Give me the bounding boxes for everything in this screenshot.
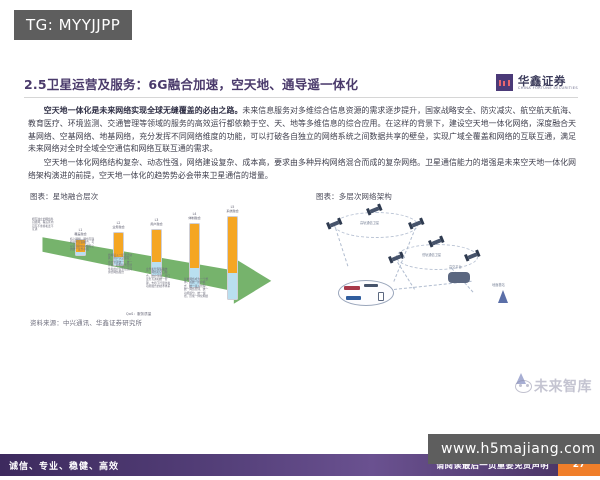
platform-label: 高空平台 — [449, 264, 462, 269]
page-title: 2.5卫星运营及服务：6G融合加速，空天地、通导遥一体化 — [24, 77, 358, 92]
footer-slogan: 诚信、专业、稳健、高效 — [0, 459, 119, 472]
bar-label-l3: L3用户融合 — [150, 219, 162, 227]
annotation-5: 星地网络成为一个整体，按统一用户模式、统一接入管理、统一网络管理、统一功能拆分、… — [184, 278, 210, 299]
ship-icon — [346, 296, 361, 300]
bar-label-l2: L2业务融合 — [112, 222, 124, 230]
vehicle-icon-1 — [344, 286, 360, 290]
watermark-overlay: 未来智库 — [515, 376, 592, 396]
bar-label-l1: L1覆盖融合 — [74, 229, 86, 237]
figure-left: 图表：星地融合层次 L1覆盖融合 — [30, 191, 290, 312]
orbit-ring-high — [334, 212, 418, 238]
paragraph-1-lead: 空天地一体化是未来网络实现全球无缝覆盖的必由之路。 — [44, 106, 243, 115]
figure-right-canvas: 高轨通信卫星 低轨通信卫星 高空平台 — [316, 206, 576, 312]
annotation-4: 业务和管理策略统一，网络和空口融合，用户平面、无口业务互通和统一管理，支持下行量… — [146, 268, 172, 289]
brand-logo: 华鑫证券 CHINA FORTUNE SECURITIES — [496, 74, 578, 92]
brand-mark-icon — [496, 74, 513, 91]
high-altitude-platform-icon — [448, 272, 470, 283]
paragraph-2-text: 空天地一体化网络结构复杂、动态性强，网络建设复杂、成本高，要求由多种异构网络混合… — [28, 158, 576, 180]
qos-legend-label: QoS：服务质量 — [126, 311, 151, 316]
annotation-2: 核心网侧、网络互联和业务层面融合，可以实现跨QoS保障上的统一业务承载 — [70, 238, 96, 252]
orbit-label-high: 高轨通信卫星 — [360, 220, 379, 225]
watermark-overlay-text: 未来智库 — [534, 376, 592, 396]
figures-row: 图表：星地融合层次 L1覆盖融合 — [0, 184, 600, 312]
watermark-badge-top: TG: MYYJJPP — [14, 10, 132, 40]
figure-left-caption: 图表：星地融合层次 — [30, 191, 290, 202]
ground-station-label: 地面基站 — [492, 282, 505, 287]
slide-header: 2.5卫星运营及服务：6G融合加速，空天地、通导遥一体化 华鑫证券 CHINA … — [0, 62, 600, 92]
orbit-label-low: 低轨通信卫星 — [422, 252, 441, 257]
device-icon — [378, 292, 384, 301]
annotation-3: 终端接入一层灵活切换，用户认证鉴权，用户管理统一，统一计费，跨网业务连续性和用户… — [108, 254, 134, 275]
paragraph-1: 空天地一体化是未来网络实现全球无缝覆盖的必由之路。未来信息服务对多维综合信息资源… — [28, 105, 576, 156]
bar-tube-l5 — [227, 216, 238, 300]
body-copy: 空天地一体化是未来网络实现全球无缝覆盖的必由之路。未来信息服务对多维综合信息资源… — [0, 98, 600, 183]
annotation-1: 相互独立的网络各自组网、覆盖区内可互不重叠和连不互通 — [32, 218, 55, 232]
aircraft-icon — [364, 284, 378, 287]
bar-label-l4: L4体制融合 — [188, 213, 200, 221]
figure-left-canvas: L1覆盖融合 L2业务融合 — [30, 206, 290, 312]
bar-column-l5: L5系统融合 — [226, 216, 239, 300]
watermark-antenna-icon — [516, 373, 526, 384]
paragraph-2: 空天地一体化网络结构复杂、动态性强，网络建设复杂、成本高，要求由多种异构网络混合… — [28, 157, 576, 183]
slide-page: 2.5卫星运营及服务：6G融合加速，空天地、通导遥一体化 华鑫证券 CHINA … — [0, 62, 600, 414]
brand-name-en: CHINA FORTUNE SECURITIES — [518, 87, 578, 91]
figure-right-caption: 图表：多层次网络架构 — [316, 191, 576, 202]
figure-right: 图表：多层次网络架构 高轨通信卫星 低轨通信卫星 — [316, 191, 576, 312]
watermark-badge-bottom: www.h5majiang.com — [428, 434, 600, 464]
bar-label-l5: L5系统融合 — [226, 206, 238, 214]
brand-name-cn: 华鑫证券 — [518, 75, 578, 87]
ground-station-icon — [498, 290, 508, 303]
